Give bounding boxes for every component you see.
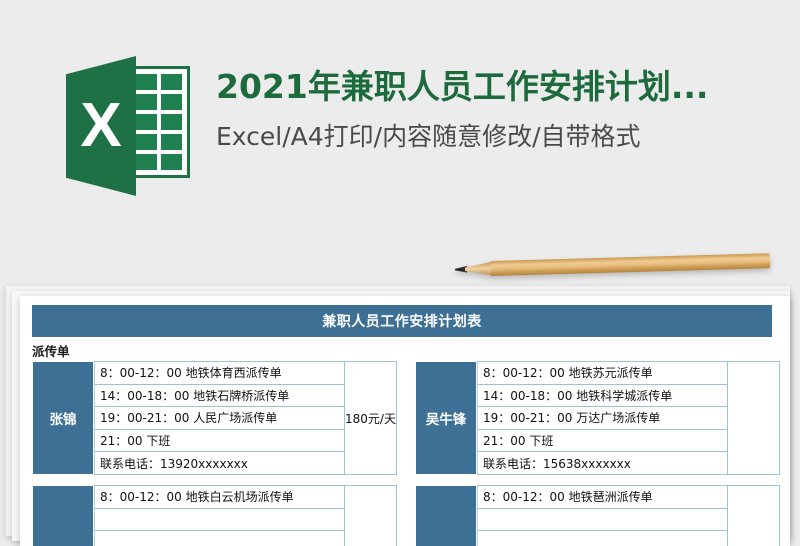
task-row: 21：00 下班 — [95, 430, 345, 453]
person-block-row: 张锦 8：00-12：00 地铁体育西派传单 14：00-18：00 地铁石牌桥… — [32, 361, 780, 475]
person-block-row: 8：00-12：00 地铁白云机场派传单 8：00-12：00 地铁琶洲派传单 — [32, 485, 780, 546]
task-row: 8：00-12：00 地铁体育西派传单 — [95, 361, 345, 385]
preview-banner: X 2021年兼职人员工作安排计划... Excel/A4打印/内容随意修改/自… — [0, 0, 800, 262]
person-pay-cell — [728, 485, 780, 546]
excel-file-icon: X — [58, 56, 198, 196]
task-row — [95, 531, 345, 546]
person-block[interactable]: 8：00-12：00 地铁白云机场派传单 — [32, 485, 397, 546]
person-name-cell — [32, 485, 94, 546]
excel-icon-grid — [131, 69, 187, 175]
person-task-list: 8：00-12：00 地铁苏元派传单 14：00-18：00 地铁科学城派传单 … — [477, 361, 728, 475]
task-row: 8：00-12：00 地铁琶洲派传单 — [478, 485, 728, 509]
person-blocks-container: 张锦 8：00-12：00 地铁体育西派传单 14：00-18：00 地铁石牌桥… — [32, 361, 780, 546]
banner-text-group: 2021年兼职人员工作安排计划... Excel/A4打印/内容随意修改/自带格… — [216, 56, 708, 153]
banner-content: X 2021年兼职人员工作安排计划... Excel/A4打印/内容随意修改/自… — [58, 56, 708, 196]
spreadsheet-preview-stack: 兼职人员工作安排计划表 派传单 张锦 8：00-12：00 地铁体育西派传单 1… — [0, 280, 800, 526]
person-block[interactable]: 8：00-12：00 地铁琶洲派传单 — [415, 485, 780, 546]
task-row: 14：00-18：00 地铁科学城派传单 — [478, 385, 728, 408]
task-row: 联系电话：15638xxxxxxx — [478, 452, 728, 475]
task-row: 14：00-18：00 地铁石牌桥派传单 — [95, 385, 345, 408]
task-row: 21：00 下班 — [478, 430, 728, 453]
person-task-list: 8：00-12：00 地铁琶洲派传单 — [477, 485, 728, 546]
task-row — [95, 509, 345, 532]
task-row — [478, 531, 728, 546]
person-block[interactable]: 张锦 8：00-12：00 地铁体育西派传单 14：00-18：00 地铁石牌桥… — [32, 361, 397, 475]
task-row: 8：00-12：00 地铁白云机场派传单 — [95, 485, 345, 509]
task-row: 8：00-12：00 地铁苏元派传单 — [478, 361, 728, 385]
person-task-list: 8：00-12：00 地铁白云机场派传单 — [94, 485, 345, 546]
person-pay-cell — [728, 361, 780, 475]
excel-icon-letter: X — [66, 56, 136, 196]
person-pay-cell — [345, 485, 397, 546]
person-pay-cell: 180元/天 — [345, 361, 397, 475]
task-row: 19：00-21：00 人民广场派传单 — [95, 407, 345, 430]
person-name-cell: 张锦 — [32, 361, 94, 475]
person-block[interactable]: 吴牛锋 8：00-12：00 地铁苏元派传单 14：00-18：00 地铁科学城… — [415, 361, 780, 475]
page-subtitle: Excel/A4打印/内容随意修改/自带格式 — [216, 121, 708, 152]
paper-sheet-front: 兼职人员工作安排计划表 派传单 张锦 8：00-12：00 地铁体育西派传单 1… — [20, 296, 790, 546]
person-name-cell: 吴牛锋 — [415, 361, 477, 475]
task-row: 联系电话：13920xxxxxxx — [95, 452, 345, 475]
person-name-cell — [415, 485, 477, 546]
task-row: 19：00-21：00 万达广场派传单 — [478, 407, 728, 430]
section-label: 派传单 — [32, 341, 70, 360]
page-title: 2021年兼职人员工作安排计划... — [216, 66, 708, 107]
task-row — [478, 509, 728, 532]
person-task-list: 8：00-12：00 地铁体育西派传单 14：00-18：00 地铁石牌桥派传单… — [94, 361, 345, 475]
sheet-title-bar: 兼职人员工作安排计划表 — [32, 305, 772, 337]
excel-icon-sheet — [128, 66, 190, 178]
